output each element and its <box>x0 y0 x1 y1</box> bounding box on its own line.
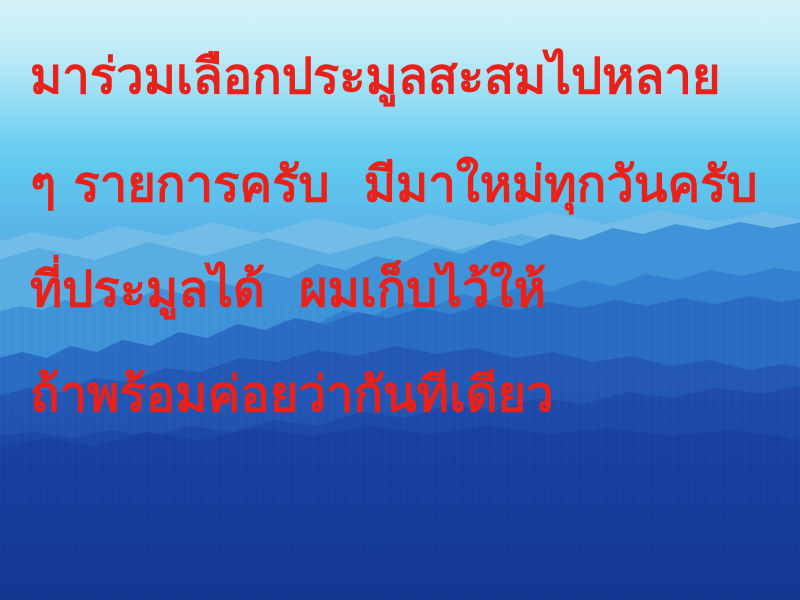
caption-line-2: ๆ รายการครับ มีมาใหม่ทุกวันครับ <box>30 160 790 209</box>
caption-line-4: ถ้าพร้อมค่อยว่ากันทีเดียว <box>30 370 790 419</box>
caption-line-3: ที่ประมูลได้ ผมเก็บไว้ให้ <box>30 265 790 314</box>
promo-banner: มาร่วมเลือกประมูลสะสมไปหลาย ๆ รายการครับ… <box>0 0 800 600</box>
caption-line-1: มาร่วมเลือกประมูลสะสมไปหลาย <box>30 52 790 101</box>
caption-overlay: มาร่วมเลือกประมูลสะสมไปหลาย ๆ รายการครับ… <box>0 0 800 600</box>
